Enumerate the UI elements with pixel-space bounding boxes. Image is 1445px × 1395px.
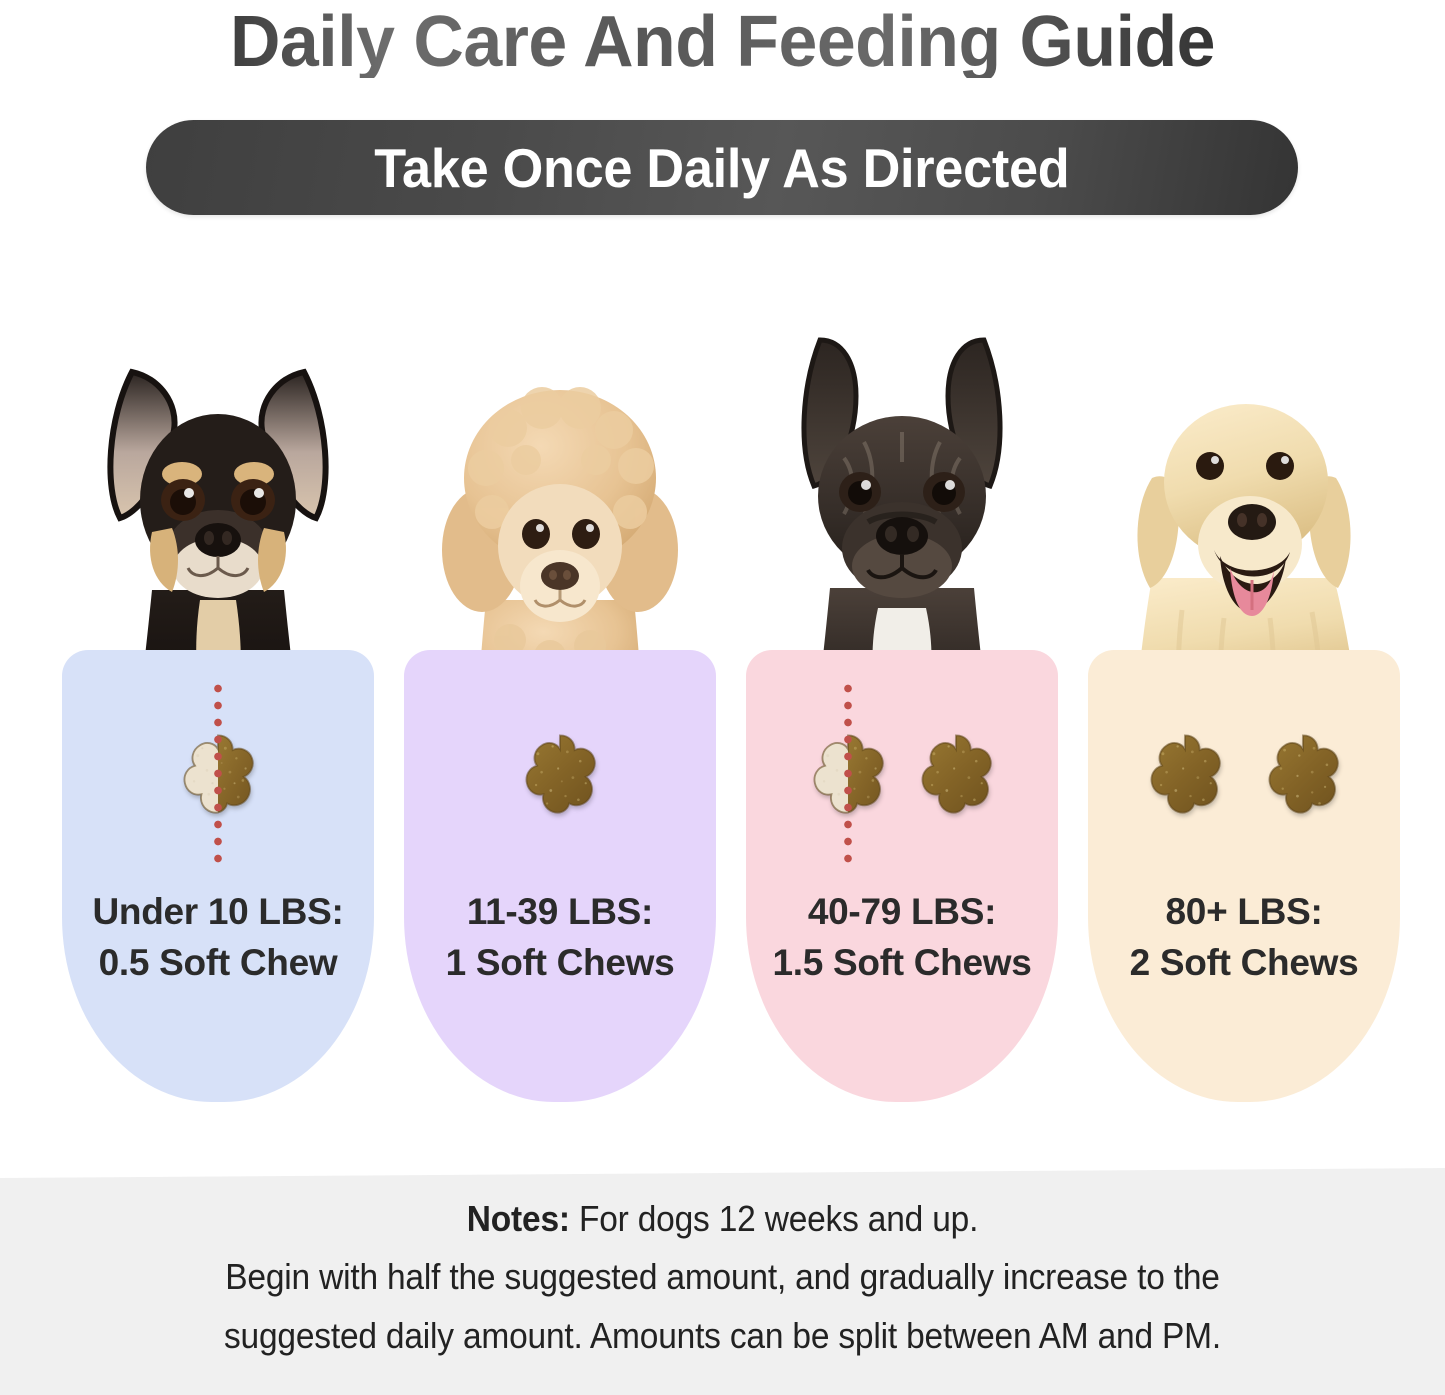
dosage-card-80-plus-lbs[interactable]: 80+ LBS: 2 Soft Chews (1074, 300, 1414, 1110)
weight-range-label: Under 10 LBS: (92, 891, 343, 932)
chew-icon-full (910, 728, 1002, 820)
footer-line-2: Begin with half the suggested amount, an… (51, 1248, 1395, 1306)
card-label-40-79-lbs: 40-79 LBS: 1.5 Soft Chews (746, 886, 1058, 988)
chew-icon-full (514, 728, 606, 820)
notes-label: Notes: (467, 1198, 570, 1239)
dog-photo-poodle (390, 300, 730, 700)
weight-range-label: 11-39 LBS: (467, 891, 653, 932)
dose-amount-label: 0.5 Soft Chew (62, 937, 374, 988)
dose-amount-label: 2 Soft Chews (1088, 937, 1400, 988)
footer-line-3: suggested daily amount. Amounts can be s… (51, 1307, 1395, 1365)
card-label-under-10-lbs: Under 10 LBS: 0.5 Soft Chew (62, 886, 374, 988)
header: Daily Care And Feeding Guide Take Once D… (0, 0, 1445, 240)
weight-range-label: 40-79 LBS: (808, 891, 996, 932)
dosage-card-row: Under 10 LBS: 0.5 Soft Chew (0, 300, 1445, 1110)
chew-icons-80-plus-lbs (1088, 684, 1400, 864)
card-body-80-plus-lbs: 80+ LBS: 2 Soft Chews (1088, 650, 1400, 1102)
footer-line-1: Notes: For dogs 12 weeks and up. (51, 1190, 1395, 1248)
card-body-40-79-lbs: 40-79 LBS: 1.5 Soft Chews (746, 650, 1058, 1102)
chew-icons-11-39-lbs (404, 684, 716, 864)
dog-photo-golden-retriever (1074, 300, 1414, 700)
card-label-80-plus-lbs: 80+ LBS: 2 Soft Chews (1088, 886, 1400, 988)
chew-icon-full (1139, 728, 1231, 820)
chew-icons-40-79-lbs (746, 684, 1058, 864)
subtitle-text: Take Once Daily As Directed (374, 136, 1069, 200)
page-title: Daily Care And Feeding Guide (22, 6, 1424, 78)
footer-notes: Notes: For dogs 12 weeks and up. Begin w… (51, 1190, 1395, 1365)
dotted-divider-line (213, 680, 224, 870)
dose-amount-label: 1.5 Soft Chews (746, 937, 1058, 988)
card-label-11-39-lbs: 11-39 LBS: 1 Soft Chews (404, 886, 716, 988)
card-body-11-39-lbs: 11-39 LBS: 1 Soft Chews (404, 650, 716, 1102)
dosage-card-under-10-lbs[interactable]: Under 10 LBS: 0.5 Soft Chew (48, 300, 388, 1110)
dog-photo-chihuahua (48, 300, 388, 700)
chew-icon-half (802, 728, 894, 820)
chew-icon-half (172, 728, 264, 820)
subtitle-pill-banner: Take Once Daily As Directed (146, 120, 1298, 215)
chew-icon-full (1257, 728, 1349, 820)
notes-line-1-rest: For dogs 12 weeks and up. (570, 1198, 978, 1239)
dotted-divider-line (843, 680, 854, 870)
card-body-under-10-lbs: Under 10 LBS: 0.5 Soft Chew (62, 650, 374, 1102)
chew-icons-under-10-lbs (62, 684, 374, 864)
weight-range-label: 80+ LBS: (1166, 891, 1323, 932)
dosage-card-11-39-lbs[interactable]: 11-39 LBS: 1 Soft Chews (390, 300, 730, 1110)
dosage-card-40-79-lbs[interactable]: 40-79 LBS: 1.5 Soft Chews (732, 300, 1072, 1110)
dog-photo-french-bulldog (732, 300, 1072, 700)
dose-amount-label: 1 Soft Chews (404, 937, 716, 988)
